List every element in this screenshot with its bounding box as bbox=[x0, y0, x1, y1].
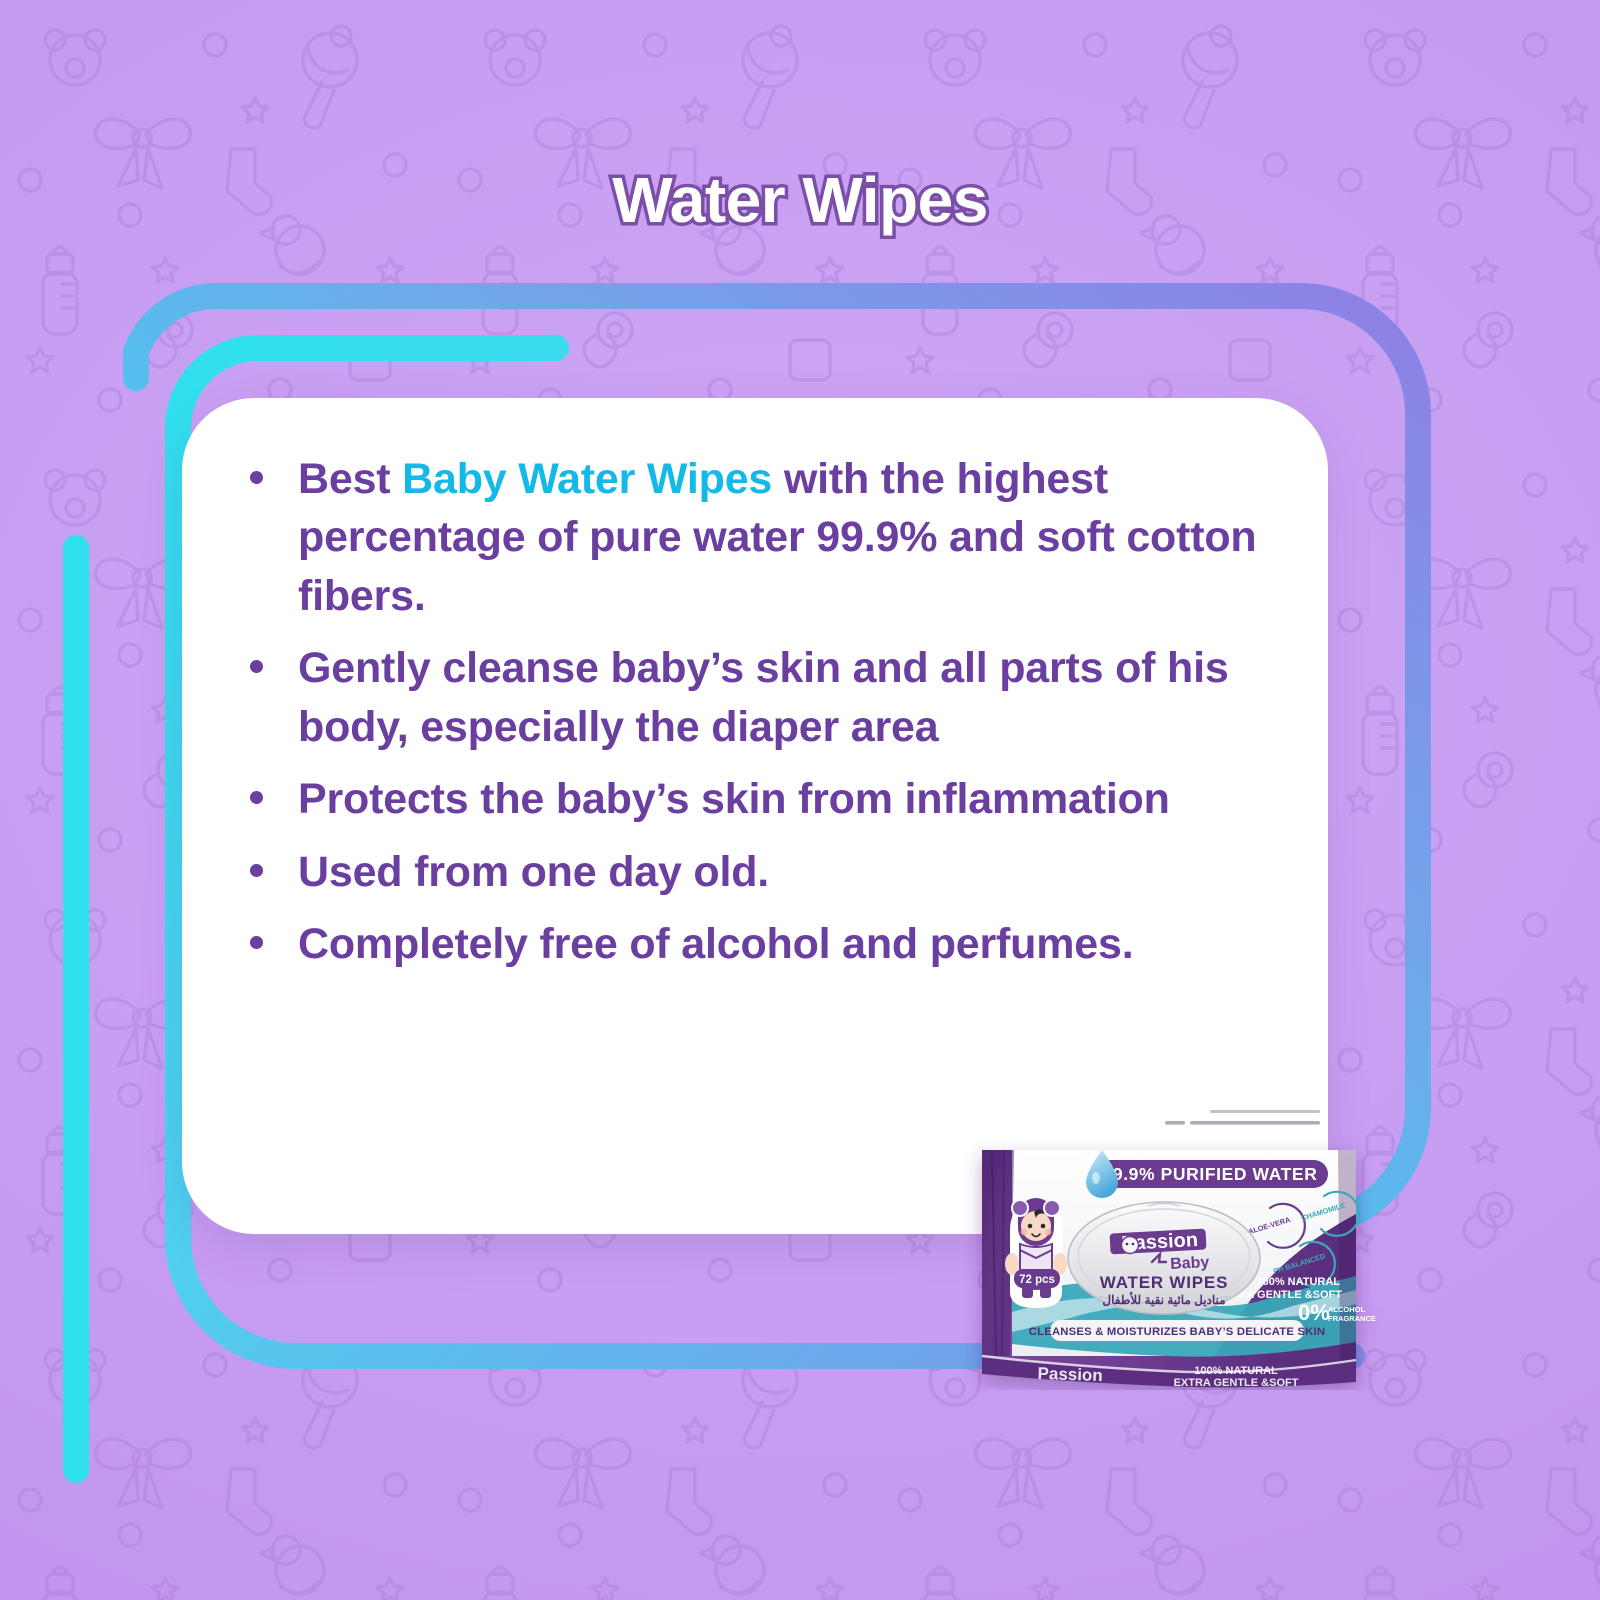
feature-list: Best Baby Water Wipes with the highest p… bbox=[234, 450, 1282, 988]
front-claim-gentle: EXTRA GENTLE &SOFT bbox=[1174, 1377, 1299, 1389]
front-brand-label: Passion bbox=[1037, 1364, 1103, 1385]
feature-list-item: Gently cleanse baby’s skin and all parts… bbox=[234, 639, 1282, 756]
fragrance-label: FRAGRANCE bbox=[1328, 1314, 1376, 1323]
alcohol-label: ALCOHOL bbox=[1328, 1305, 1365, 1314]
feature-text: Used from one day old. bbox=[298, 848, 769, 896]
feature-highlight-text: Baby Water Wipes bbox=[402, 455, 772, 503]
feature-text: Gently cleanse baby’s skin and all parts… bbox=[298, 644, 1229, 750]
package-arabic-fineprint bbox=[1165, 1110, 1320, 1125]
baby-mascot-icon: 72 pcs bbox=[1005, 1198, 1067, 1308]
poster-canvas: Water Wipes Best Baby Water Wipes with t… bbox=[0, 0, 1600, 1600]
package-body: 99.9% PURIFIED WATER ALOE-VERA CHAMOMILE… bbox=[982, 1150, 1376, 1389]
product-name-arabic-label: مناديل مائية نقية للأطفال bbox=[1102, 1292, 1225, 1307]
alcohol-zero-value: 0% bbox=[1298, 1300, 1330, 1325]
front-claim-natural: 100% NATURAL bbox=[1194, 1365, 1278, 1377]
product-package-image: 99.9% PURIFIED WATER ALOE-VERA CHAMOMILE… bbox=[952, 1098, 1384, 1390]
feature-text: Completely free of alcohol and perfumes. bbox=[298, 920, 1133, 968]
count-badge-label: 72 pcs bbox=[1019, 1274, 1055, 1286]
cleanses-banner: CLEANSES & MOISTURIZES BABY’S DELICATE S… bbox=[1029, 1320, 1325, 1341]
cleanses-banner-label: CLEANSES & MOISTURIZES BABY’S DELICATE S… bbox=[1029, 1326, 1325, 1338]
feature-text: Protects the baby’s skin from inflam­mat… bbox=[298, 775, 1170, 823]
claim-natural: 100% NATURAL bbox=[1256, 1276, 1340, 1288]
purified-water-banner: 99.9% PURIFIED WATER bbox=[1092, 1160, 1328, 1188]
feature-text: Best bbox=[298, 455, 402, 503]
product-name-label: WATER WIPES bbox=[1100, 1273, 1228, 1292]
feature-list-item: Protects the baby’s skin from inflam­mat… bbox=[234, 770, 1282, 828]
feature-list-item: Used from one day old. bbox=[234, 843, 1282, 901]
page-title: Water Wipes bbox=[0, 168, 1600, 232]
brand-name-baby: Baby bbox=[1170, 1254, 1210, 1273]
feature-list-item: Completely free of alcohol and perfumes. bbox=[234, 915, 1282, 973]
feature-list-item: Best Baby Water Wipes with the highest p… bbox=[234, 450, 1282, 625]
purified-water-banner-label: 99.9% PURIFIED WATER bbox=[1103, 1164, 1318, 1184]
